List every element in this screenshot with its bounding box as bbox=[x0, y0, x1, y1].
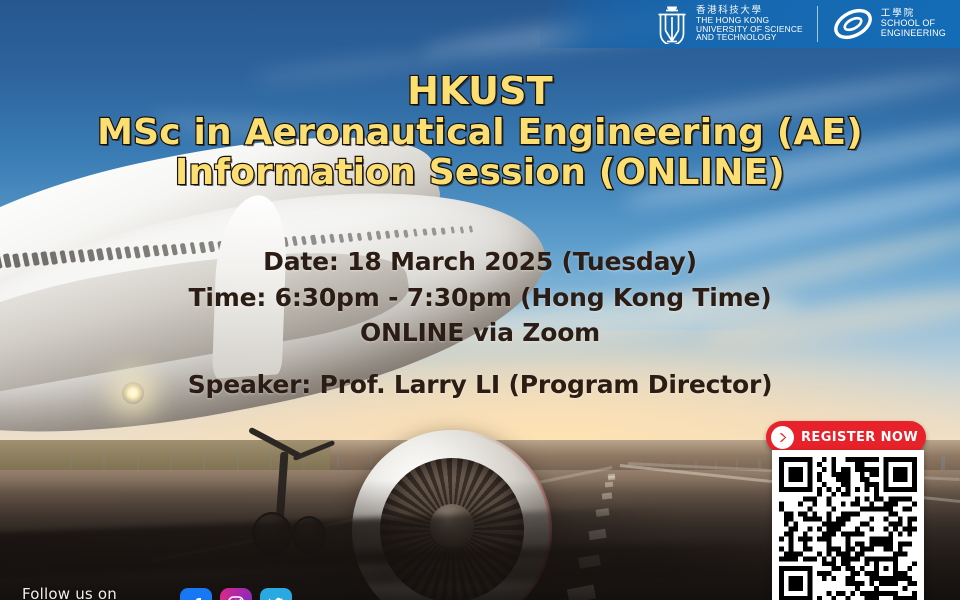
airplane-window bbox=[413, 229, 418, 237]
qr-code[interactable] bbox=[779, 457, 917, 600]
event-mode: ONLINE via Zoom bbox=[0, 315, 960, 351]
follow-us-label: Follow us on bbox=[22, 585, 117, 600]
airplane-window bbox=[329, 234, 335, 244]
register-now-label: REGISTER NOW bbox=[801, 430, 918, 445]
twitter-icon[interactable] bbox=[260, 588, 292, 600]
airplane-window bbox=[385, 230, 391, 239]
airplane-window bbox=[320, 234, 326, 244]
airplane-window bbox=[366, 231, 372, 240]
airplane-window bbox=[376, 231, 382, 240]
airplane-window bbox=[394, 230, 399, 239]
hkust-wordmark: 香港科技大學 THE HONG KONG UNIVERSITY OF SCIEN… bbox=[696, 6, 803, 41]
soe-english-line-2: ENGINEERING bbox=[881, 29, 946, 39]
school-of-engineering-wordmark: 工學院 SCHOOL OF ENGINEERING bbox=[881, 9, 946, 39]
title-line-2: MSc in Aeronautical Engineering (AE) bbox=[0, 113, 960, 153]
event-details: Date: 18 March 2025 (Tuesday) Time: 6:30… bbox=[0, 244, 960, 351]
social-links bbox=[180, 588, 292, 600]
event-time: Time: 6:30pm - 7:30pm (Hong Kong Time) bbox=[0, 280, 960, 316]
airplane-window bbox=[357, 232, 363, 241]
airplane-window bbox=[469, 225, 474, 233]
airplane-window bbox=[450, 226, 455, 234]
school-of-engineering-swoosh-icon bbox=[832, 7, 874, 41]
chevron-right-icon bbox=[771, 426, 794, 449]
hkust-logo: 香港科技大學 THE HONG KONG UNIVERSITY OF SCIEN… bbox=[655, 4, 817, 44]
airplane-window bbox=[431, 227, 436, 235]
event-date: Date: 18 March 2025 (Tuesday) bbox=[0, 244, 960, 280]
instagram-icon[interactable] bbox=[220, 588, 252, 600]
title-line-3: Information Session (ONLINE) bbox=[0, 153, 960, 193]
register-now-button[interactable]: REGISTER NOW bbox=[766, 421, 926, 453]
airplane-window bbox=[403, 229, 408, 238]
school-of-engineering-logo: 工學院 SCHOOL OF ENGINEERING bbox=[818, 7, 946, 41]
hkust-chinese-name: 香港科技大學 bbox=[696, 6, 803, 16]
airplane-window bbox=[348, 233, 354, 242]
event-speaker: Speaker: Prof. Larry LI (Program Directo… bbox=[0, 370, 960, 399]
title-line-1: HKUST bbox=[0, 70, 960, 113]
airplane-window bbox=[422, 228, 427, 236]
event-title: HKUST MSc in Aeronautical Engineering (A… bbox=[0, 70, 960, 193]
hkust-arch-icon bbox=[655, 4, 689, 44]
hkust-english-line-3: AND TECHNOLOGY bbox=[696, 33, 803, 42]
landing-gear-brace bbox=[293, 440, 336, 461]
airplane-window bbox=[459, 226, 464, 234]
airplane-window bbox=[441, 227, 446, 235]
logo-group: 香港科技大學 THE HONG KONG UNIVERSITY OF SCIEN… bbox=[655, 0, 946, 48]
facebook-icon[interactable] bbox=[180, 588, 212, 600]
qr-code-panel[interactable] bbox=[772, 450, 924, 600]
landing-gear-brace bbox=[248, 427, 302, 460]
poster: 香港科技大學 THE HONG KONG UNIVERSITY OF SCIEN… bbox=[0, 0, 960, 600]
airplane-window bbox=[338, 233, 344, 243]
